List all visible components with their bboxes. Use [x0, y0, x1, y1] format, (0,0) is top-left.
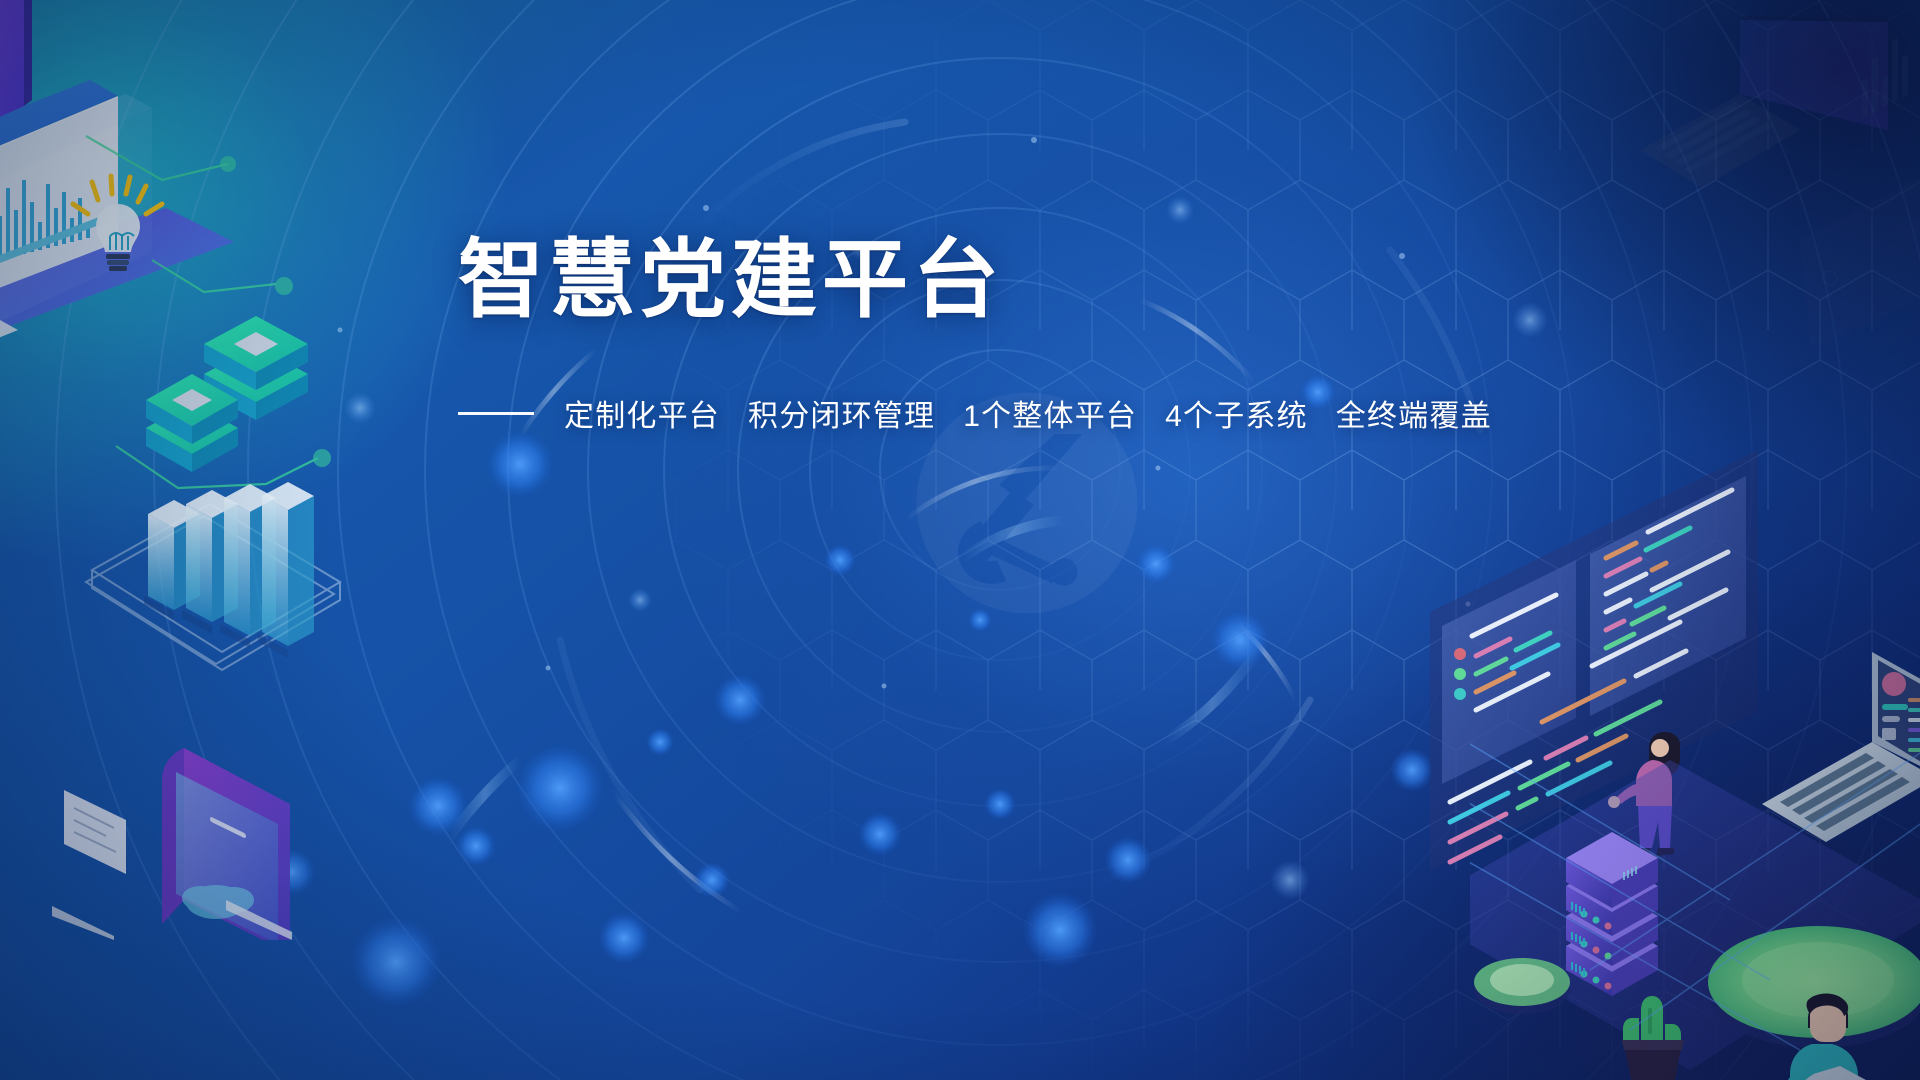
subtitle-row: 定制化平台积分闭环管理1个整体平台4个子系统全终端覆盖	[458, 391, 1478, 435]
subtitle-dash	[458, 412, 534, 415]
page-title: 智慧党建平台	[458, 236, 1478, 325]
isometric-workspace-illustration	[1470, 640, 1920, 1080]
subtitle: 定制化平台积分闭环管理1个整体平台4个子系统全终端覆盖	[564, 391, 1492, 435]
hero-text-block: 智慧党建平台 定制化平台积分闭环管理1个整体平台4个子系统全终端覆盖	[458, 236, 1478, 435]
subtitle-item-2: 1个整体平台	[963, 400, 1137, 433]
isometric-laptop-dim-illustration	[1600, 0, 1920, 350]
hero-banner: 智慧党建平台 定制化平台积分闭环管理1个整体平台4个子系统全终端覆盖	[0, 0, 1920, 1080]
subtitle-item-1: 积分闭环管理	[748, 400, 935, 433]
isometric-data-bars-phone-illustration	[40, 470, 400, 940]
subtitle-item-3: 4个子系统	[1165, 400, 1308, 433]
subtitle-item-0: 定制化平台	[564, 400, 720, 433]
isometric-purple-device-edge	[0, 0, 110, 164]
subtitle-item-4: 全终端覆盖	[1336, 400, 1492, 433]
